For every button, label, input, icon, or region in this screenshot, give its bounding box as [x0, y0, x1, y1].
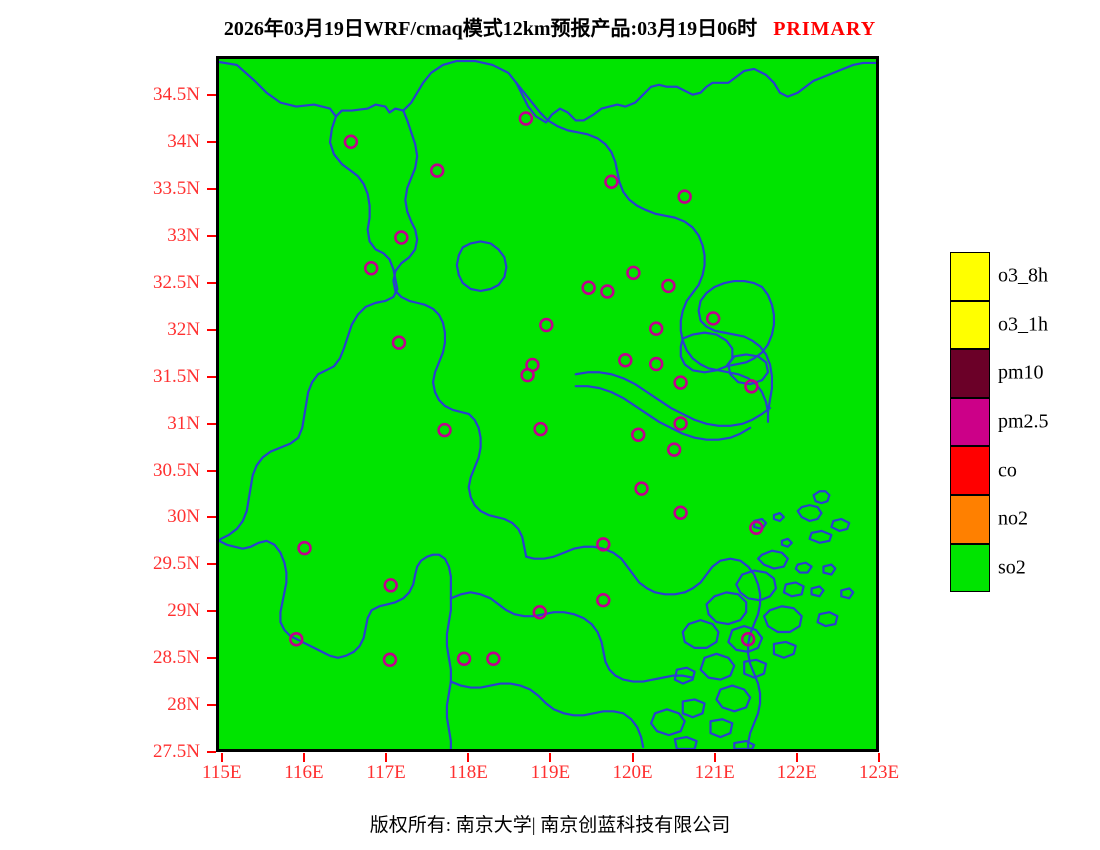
y-axis-label: 31N: [128, 413, 200, 433]
x-axis-tick: [878, 753, 880, 762]
station-marker[interactable]: [540, 319, 552, 331]
x-axis-label-text: 116E: [264, 762, 344, 784]
y-axis-label: 33.5N: [128, 178, 200, 198]
x-axis-label-text: 123E: [839, 762, 919, 784]
y-axis-tick: [207, 376, 216, 378]
legend-item-label: pm2.5: [998, 411, 1049, 434]
station-marker[interactable]: [520, 113, 532, 125]
y-axis-tick: [207, 235, 216, 237]
legend-color-swatch: [950, 301, 990, 350]
station-marker[interactable]: [384, 654, 396, 666]
station-marker[interactable]: [675, 418, 687, 430]
y-axis-label-text: 28N: [128, 694, 200, 716]
x-axis-label: 115E: [182, 762, 262, 784]
station-marker[interactable]: [393, 337, 405, 349]
station-marker[interactable]: [662, 280, 674, 292]
y-axis-tick: [207, 751, 216, 753]
legend-item-label: so2: [998, 556, 1026, 579]
station-marker[interactable]: [431, 165, 443, 177]
y-axis-label-text: 34.5N: [128, 84, 200, 106]
x-axis-label: 118E: [428, 762, 508, 784]
x-axis-label-text: 121E: [675, 762, 755, 784]
x-axis-label: 119E: [510, 762, 590, 784]
y-axis-label: 34.5N: [128, 84, 200, 104]
x-axis-tick: [221, 753, 223, 762]
x-axis-label: 117E: [346, 762, 426, 784]
y-axis-label-text: 33.5N: [128, 178, 200, 200]
legend[interactable]: o3_8ho3_1hpm10pm2.5cono2so2: [950, 252, 990, 592]
y-axis-label: 29.5N: [128, 553, 200, 573]
y-axis-label-text: 30N: [128, 506, 200, 528]
station-marker[interactable]: [385, 579, 397, 591]
x-axis-label-text: 115E: [182, 762, 262, 784]
y-axis-tick: [207, 704, 216, 706]
station-marker[interactable]: [675, 377, 687, 389]
y-axis-label: 31.5N: [128, 366, 200, 386]
y-axis-label-text: 32.5N: [128, 272, 200, 294]
station-marker[interactable]: [636, 483, 648, 495]
x-axis-label: 116E: [264, 762, 344, 784]
x-axis-label-text: 119E: [510, 762, 590, 784]
province-boundaries: [219, 61, 876, 749]
y-axis-label: 33N: [128, 225, 200, 245]
footer-copyright: 版权所有: 南京大学| 南京创蓝科技有限公司: [0, 810, 1100, 837]
y-axis-tick: [207, 188, 216, 190]
y-axis-tick: [207, 94, 216, 96]
legend-item-label: o3_8h: [998, 265, 1048, 288]
x-axis-tick: [303, 753, 305, 762]
y-axis-label: 32N: [128, 319, 200, 339]
x-axis-tick: [385, 753, 387, 762]
y-axis-tick: [207, 470, 216, 472]
y-axis-label-text: 29.5N: [128, 553, 200, 575]
x-axis-label: 120E: [593, 762, 673, 784]
y-axis-label: 30.5N: [128, 460, 200, 480]
y-axis-label-text: 30.5N: [128, 460, 200, 482]
station-marker[interactable]: [707, 312, 719, 324]
station-marker[interactable]: [675, 507, 687, 519]
station-marker[interactable]: [395, 232, 407, 244]
legend-item-label: o3_1h: [998, 313, 1048, 336]
y-axis-tick: [207, 141, 216, 143]
x-axis-tick: [796, 753, 798, 762]
legend-item-label: pm10: [998, 362, 1044, 385]
y-axis-label: 32.5N: [128, 272, 200, 292]
y-axis-label-text: 31.5N: [128, 366, 200, 388]
x-axis-tick: [632, 753, 634, 762]
y-axis-label: 28N: [128, 694, 200, 714]
legend-item-o38h[interactable]: o3_8h: [950, 252, 990, 301]
y-axis-label: 34N: [128, 131, 200, 151]
station-marker[interactable]: [365, 262, 377, 274]
y-axis-label: 27.5N: [128, 741, 200, 761]
map-plot-area[interactable]: [216, 56, 879, 752]
y-axis-tick: [207, 423, 216, 425]
legend-item-o31h[interactable]: o3_1h: [950, 301, 990, 350]
map-svg: [219, 59, 876, 749]
station-marker[interactable]: [583, 282, 595, 294]
legend-color-swatch: [950, 544, 990, 593]
title-main-text: 2026年03月19日WRF/cmaq模式12km预报产品:03月19日06时: [224, 18, 757, 40]
legend-color-swatch: [950, 252, 990, 301]
y-axis-label-text: 27.5N: [128, 741, 200, 763]
legend-color-swatch: [950, 495, 990, 544]
x-axis-label-text: 117E: [346, 762, 426, 784]
x-axis-tick: [714, 753, 716, 762]
y-axis-tick: [207, 610, 216, 612]
station-marker[interactable]: [679, 191, 691, 203]
page-title: 2026年03月19日WRF/cmaq模式12km预报产品:03月19日06时P…: [0, 12, 1100, 41]
legend-color-swatch: [950, 349, 990, 398]
x-axis-label-text: 118E: [428, 762, 508, 784]
station-marker[interactable]: [487, 653, 499, 665]
y-axis-label: 30N: [128, 506, 200, 526]
station-marker[interactable]: [534, 606, 546, 618]
station-marker[interactable]: [745, 380, 757, 392]
x-axis-tick: [467, 753, 469, 762]
legend-item-so2[interactable]: so2: [950, 544, 990, 593]
y-axis-tick: [207, 329, 216, 331]
legend-color-swatch: [950, 446, 990, 495]
legend-item-pm25[interactable]: pm2.5: [950, 398, 990, 447]
station-marker[interactable]: [627, 267, 639, 279]
station-marker[interactable]: [619, 354, 631, 366]
y-axis-label-text: 29N: [128, 600, 200, 622]
x-axis-label: 122E: [757, 762, 837, 784]
legend-item-label: no2: [998, 508, 1028, 531]
station-marker[interactable]: [601, 286, 613, 298]
x-axis-label-text: 122E: [757, 762, 837, 784]
y-axis-label-text: 28.5N: [128, 647, 200, 669]
legend-item-co[interactable]: co: [950, 446, 990, 495]
station-marker[interactable]: [650, 358, 662, 370]
station-markers: [290, 113, 762, 666]
station-marker[interactable]: [299, 542, 311, 554]
station-marker[interactable]: [345, 136, 357, 148]
station-marker[interactable]: [650, 323, 662, 335]
x-axis-label-text: 120E: [593, 762, 673, 784]
legend-item-label: co: [998, 459, 1017, 482]
y-axis-tick: [207, 516, 216, 518]
station-marker[interactable]: [605, 176, 617, 188]
y-axis-label-text: 32N: [128, 319, 200, 341]
station-marker[interactable]: [458, 653, 470, 665]
station-marker[interactable]: [597, 594, 609, 606]
y-axis-label-text: 31N: [128, 413, 200, 435]
x-axis-label: 123E: [839, 762, 919, 784]
legend-item-no2[interactable]: no2: [950, 495, 990, 544]
y-axis-tick: [207, 657, 216, 659]
legend-color-swatch: [950, 398, 990, 447]
station-marker[interactable]: [522, 369, 534, 381]
y-axis-tick: [207, 563, 216, 565]
y-axis-label: 29N: [128, 600, 200, 620]
station-marker[interactable]: [439, 424, 451, 436]
y-axis-label-text: 33N: [128, 225, 200, 247]
station-marker[interactable]: [535, 423, 547, 435]
station-marker[interactable]: [668, 444, 680, 456]
legend-item-pm10[interactable]: pm10: [950, 349, 990, 398]
y-axis-tick: [207, 282, 216, 284]
y-axis-label: 28.5N: [128, 647, 200, 667]
title-primary-label: PRIMARY: [773, 18, 876, 40]
station-marker[interactable]: [632, 429, 644, 441]
x-axis-label: 121E: [675, 762, 755, 784]
y-axis-label-text: 34N: [128, 131, 200, 153]
x-axis-tick: [549, 753, 551, 762]
